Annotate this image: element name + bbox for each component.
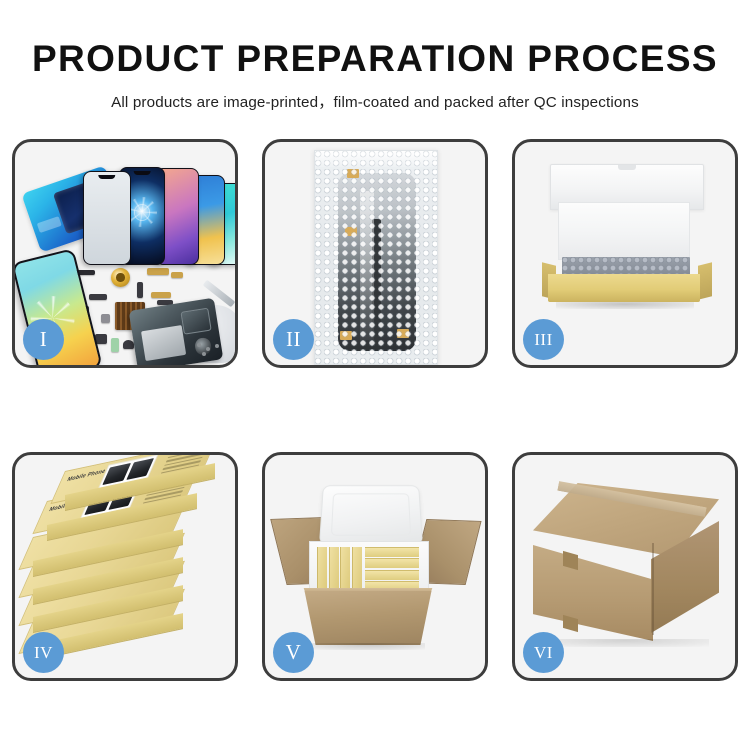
speaker-coil-part: [111, 268, 130, 287]
tape-piece: [340, 331, 352, 340]
open-inner-box: [542, 162, 712, 332]
step-panel-6: VI: [512, 452, 738, 681]
screw: [206, 347, 210, 351]
screen-assembly-inside: [338, 173, 416, 351]
retail-box-horizontal-group: [365, 547, 419, 591]
phone-notch: [134, 171, 151, 175]
retail-box-vertical: [352, 547, 362, 591]
drop-shadow: [541, 639, 709, 647]
retail-box-horizontal: [365, 558, 419, 568]
flex-cable-strip: [372, 219, 381, 344]
step-badge-3: III: [523, 319, 564, 360]
logic-board-part: [181, 307, 212, 334]
steps-grid: I II: [12, 139, 738, 681]
screws-group: [197, 343, 223, 357]
step-badge-6: VI: [523, 632, 564, 673]
carton-corner-seam: [652, 543, 654, 635]
product-preparation-infographic: PRODUCT PREPARATION PROCESS All products…: [0, 0, 750, 750]
small-part: [101, 314, 110, 323]
film-tab: [37, 216, 62, 233]
tape-piece: [347, 169, 359, 178]
phone-notch: [98, 175, 115, 179]
box-side-flap-right: [698, 262, 712, 299]
retail-box-vertical: [329, 547, 339, 591]
retail-box-horizontal: [365, 570, 419, 580]
screw: [202, 352, 206, 356]
battery-part: [141, 325, 186, 361]
tape-piece: [397, 329, 409, 338]
box-front-panel: [548, 274, 700, 302]
small-part: [111, 338, 119, 352]
drop-shadow: [309, 643, 425, 650]
carton-front-panel: [299, 591, 437, 645]
retail-box-vertical: [340, 547, 350, 591]
phone-glass-panel: [83, 171, 131, 265]
drop-shadow: [556, 302, 694, 309]
retail-box-vertical: [317, 547, 327, 591]
header: PRODUCT PREPARATION PROCESS All products…: [0, 40, 750, 112]
step-panel-3: III: [512, 139, 738, 368]
small-part: [89, 294, 107, 300]
flex-cable-part: [147, 268, 169, 275]
step-badge-4: IV: [23, 632, 64, 673]
flex-cable-part: [137, 282, 143, 298]
foam-lid: [319, 485, 423, 545]
page-subtitle: All products are image-printed，film-coat…: [0, 90, 750, 112]
packed-retail-boxes: [317, 547, 419, 591]
step-panel-1: I: [12, 139, 238, 368]
crack-pattern: [127, 197, 157, 227]
step-badge-2: II: [273, 319, 314, 360]
retail-box-horizontal: [365, 547, 419, 557]
foam-pad: [558, 202, 690, 260]
retail-box: Mobile Phone Spare Parts: [65, 471, 215, 517]
bubble-wrap-bag: [314, 150, 438, 365]
small-part: [123, 340, 134, 349]
screw: [197, 343, 201, 347]
tape-piece: [345, 227, 357, 236]
flex-cable-part: [151, 292, 171, 298]
step-panel-2: II: [262, 139, 488, 368]
step-panel-4: Mobile Phone Spare Parts Mobile Phone Sp…: [12, 452, 238, 681]
flex-cable-part: [171, 272, 183, 278]
carton-left-face: [533, 545, 653, 641]
step-panel-5: V: [262, 452, 488, 681]
step-badge-5: V: [273, 632, 314, 673]
phone-lineup: [83, 160, 233, 265]
step-badge-1: I: [23, 319, 64, 360]
screw: [215, 344, 219, 348]
page-title: PRODUCT PREPARATION PROCESS: [0, 40, 750, 79]
